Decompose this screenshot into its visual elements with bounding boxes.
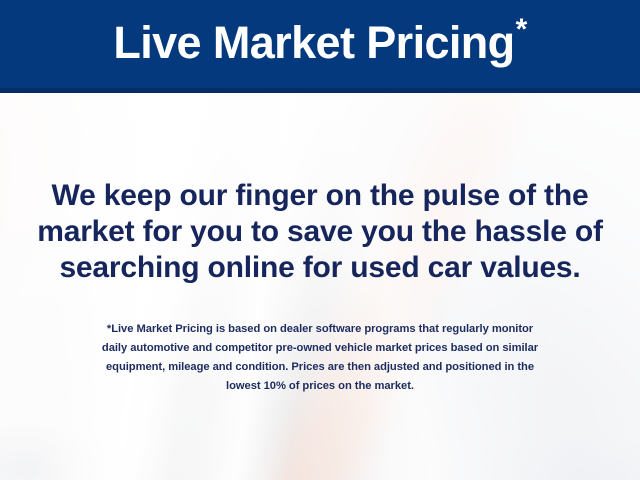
disclaimer-line-3: equipment, mileage and condition. Prices… [28,358,612,377]
page-title-text: Live Market Pricing [113,20,514,65]
disclaimer-line-4: lowest 10% of prices on the market. [28,377,612,396]
disclaimer-line-1: *Live Market Pricing is based on dealer … [28,320,612,339]
headline-line-1: We keep our finger on the pulse of the [24,178,616,214]
disclaimer-text: *Live Market Pricing is based on dealer … [28,320,612,396]
page-title: Live Market Pricing* [0,0,640,88]
live-market-pricing-banner: Live Market Pricing* We keep our finger … [0,0,640,480]
headline-line-3: searching online for used car values. [24,250,616,286]
header-bar: Live Market Pricing* [0,0,640,93]
headline: We keep our finger on the pulse of the m… [24,178,616,286]
headline-line-2: market for you to save you the hassle of [24,214,616,250]
disclaimer-line-2: daily automotive and competitor pre-owne… [28,339,612,358]
